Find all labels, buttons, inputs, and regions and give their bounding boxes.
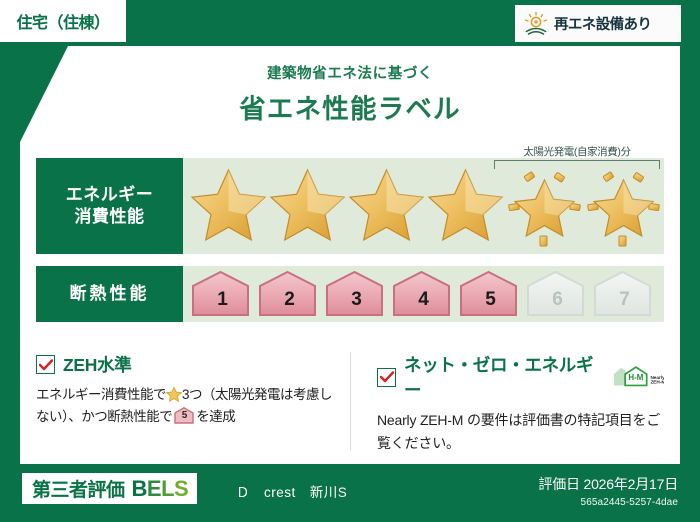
criterion-desc-part1: エネルギー消費性能で (36, 387, 166, 402)
third-party-eval-label: 第三者評価 (32, 475, 125, 502)
insulation-grade-badge: 1 (189, 268, 256, 320)
insulation-grade-badge: 3 (323, 268, 390, 320)
evaluation-id: 565a2445-5257-4dae (538, 497, 678, 508)
inline-house-number: 5 (173, 406, 195, 423)
svg-text:ZEH-M: ZEH-M (650, 380, 664, 385)
insulation-grade-badge-inactive: 6 (524, 268, 591, 320)
criterion-net-zero-energy: ネット・ゼロ・エネルギー H-M Nearly ZEH-M Nearly ZEH… (350, 352, 664, 450)
insulation-grade-badge: 5 (457, 268, 524, 320)
star-rating-item-solar (505, 162, 584, 250)
insulation-grade-number: 1 (189, 289, 256, 311)
document-type-tag: 住宅（住棟） (0, 0, 126, 42)
criterion-zeh-standard: ZEH水準 エネルギー消費性能で3つ（太陽光発電は考慮しない）、かつ断熱性能で5… (36, 352, 350, 450)
evaluation-date: 評価日 2026年2月17日 (538, 474, 678, 494)
title-subtitle: 建築物省エネ法に基づく (0, 62, 700, 83)
stars-strip (183, 158, 664, 254)
criterion-description: エネルギー消費性能で3つ（太陽光発電は考慮しない）、かつ断熱性能で5を達成 (36, 384, 334, 428)
insulation-grade-strip: 1 2 3 4 (183, 266, 664, 322)
insulation-grade-number: 7 (591, 289, 658, 311)
label-footer: 第三者評価 BELS Ｄ crest 新川S 評価日 2026年2月17日 56… (0, 464, 700, 522)
inline-house-badge: 5 (173, 406, 195, 423)
energy-label-line1: エネルギー (66, 184, 154, 206)
insulation-performance-label-cell: 断熱性能 (36, 266, 183, 322)
star-rating-item (268, 162, 347, 250)
energy-performance-label-cell: エネルギー 消費性能 (36, 158, 183, 254)
criteria-section: ZEH水準 エネルギー消費性能で3つ（太陽光発電は考慮しない）、かつ断熱性能で5… (36, 352, 664, 450)
check-icon (380, 371, 394, 383)
criterion-description: Nearly ZEH-M の要件は評価書の特記項目をご覧ください。 (377, 409, 664, 454)
svg-text:H-M: H-M (628, 373, 643, 382)
insulation-grade-badge-inactive: 7 (591, 268, 658, 320)
solar-sun-icon (523, 11, 549, 37)
criterion-desc-part3: を達成 (196, 409, 235, 424)
label-title-block: 建築物省エネ法に基づく 省エネ性能ラベル (0, 62, 700, 126)
insulation-grade-badge: 4 (390, 268, 457, 320)
insulation-label: 断熱性能 (70, 283, 150, 305)
inline-star-icon (166, 386, 182, 402)
criterion-title: ネット・ゼロ・エネルギー (404, 352, 598, 402)
energy-stars-area: 太陽光発電(自家消費)分 (183, 158, 664, 254)
criterion-desc-stars: 3つ（太陽光発電 (182, 387, 280, 402)
renewable-equipment-badge: 再エネ設備あり (515, 5, 681, 42)
bels-third-party-chip: 第三者評価 BELS (22, 473, 197, 504)
evaluation-info: 評価日 2026年2月17日 565a2445-5257-4dae (538, 474, 678, 508)
criterion-title: ZEH水準 (63, 352, 132, 377)
insulation-grade-number: 4 (390, 289, 457, 311)
energy-performance-label: 住宅（住棟） 再エネ設備あり 建築物省エネ法に基づく 省エネ性能ラベル エネルギ… (0, 0, 700, 522)
insulation-grade-badge: 2 (256, 268, 323, 320)
bels-logo-text: BELS (132, 476, 189, 502)
star-rating-item (347, 162, 426, 250)
building-name: Ｄ crest 新川S (236, 481, 347, 501)
document-type-label: 住宅（住棟） (16, 9, 109, 33)
energy-label-line2: 消費性能 (75, 206, 145, 228)
title-main: 省エネ性能ラベル (0, 87, 700, 126)
insulation-grades-area: 1 2 3 4 (183, 266, 664, 322)
checkbox-checked (377, 368, 396, 387)
insulation-grade-number: 6 (524, 289, 591, 311)
criterion-header: ZEH水準 (36, 352, 334, 377)
insulation-grade-number: 5 (457, 289, 524, 311)
renewable-badge-label: 再エネ設備あり (554, 13, 651, 34)
insulation-performance-row: 断熱性能 1 (36, 266, 664, 322)
star-rating-item-solar (584, 162, 663, 250)
zeh-m-logo-icon: H-M Nearly ZEH-M (612, 364, 665, 390)
criterion-header: ネット・ゼロ・エネルギー H-M Nearly ZEH-M (377, 352, 664, 402)
star-rating-item (189, 162, 268, 250)
check-icon (39, 359, 53, 371)
star-rating-item (426, 162, 505, 250)
insulation-grade-number: 3 (323, 289, 390, 311)
insulation-grade-number: 2 (256, 289, 323, 311)
energy-performance-row: エネルギー 消費性能 (36, 158, 664, 254)
checkbox-checked (36, 355, 55, 374)
